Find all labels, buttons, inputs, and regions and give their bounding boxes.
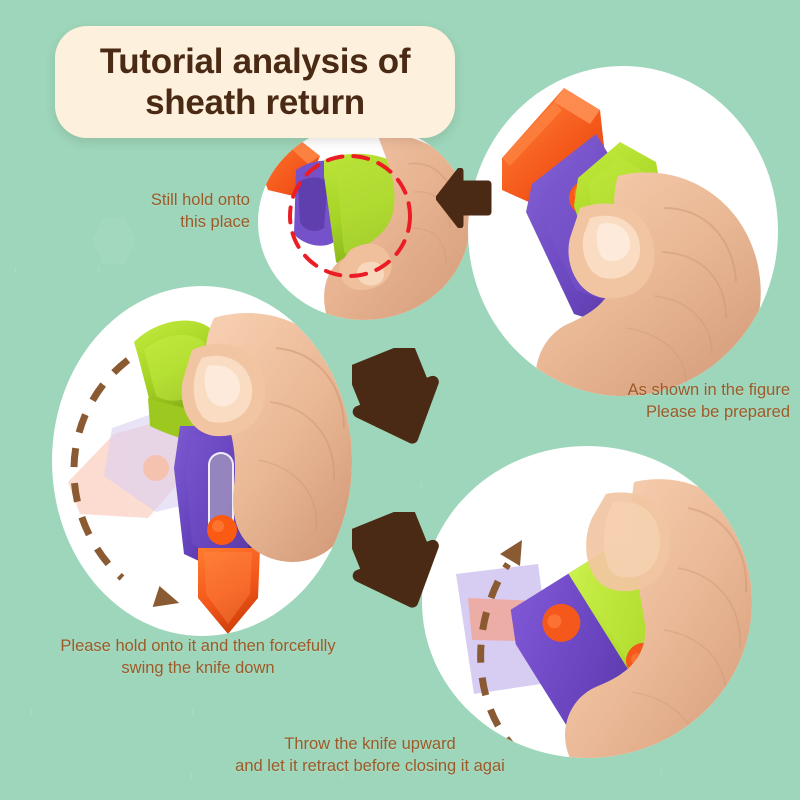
hexagon-shape — [14, 222, 100, 318]
page-title-line2: sheath return — [100, 82, 410, 123]
caption-throw-the-knife-upward: Throw the knife upward and let it retrac… — [155, 734, 585, 778]
photo-throw-knife-upward — [422, 446, 752, 758]
caption-still-hold-onto-this-place: Still hold onto this place — [40, 190, 250, 234]
caption-swing-the-knife-down: Please hold onto it and then forcefully … — [8, 636, 388, 680]
photo-knife-open-ready — [468, 66, 778, 396]
infographic-root: Tutorial analysis of sheath return Still… — [0, 0, 800, 800]
panel-swing-knife-down — [52, 286, 352, 636]
arrow-left-top — [436, 168, 492, 233]
title-banner: Tutorial analysis of sheath return — [55, 26, 455, 138]
page-title: Tutorial analysis of sheath return — [84, 41, 426, 124]
page-title-line1: Tutorial analysis of — [100, 41, 410, 82]
arrow-downright-lower — [352, 512, 444, 615]
panel-knife-open-ready — [468, 66, 778, 396]
knife-blade-orange — [198, 548, 260, 634]
panel-throw-knife-upward — [422, 446, 752, 758]
caption-as-shown-please-be-prepared: As shown in the figure Please be prepare… — [560, 380, 790, 424]
photo-swing-knife-down — [52, 286, 352, 636]
arrow-downright-upper — [352, 348, 444, 451]
